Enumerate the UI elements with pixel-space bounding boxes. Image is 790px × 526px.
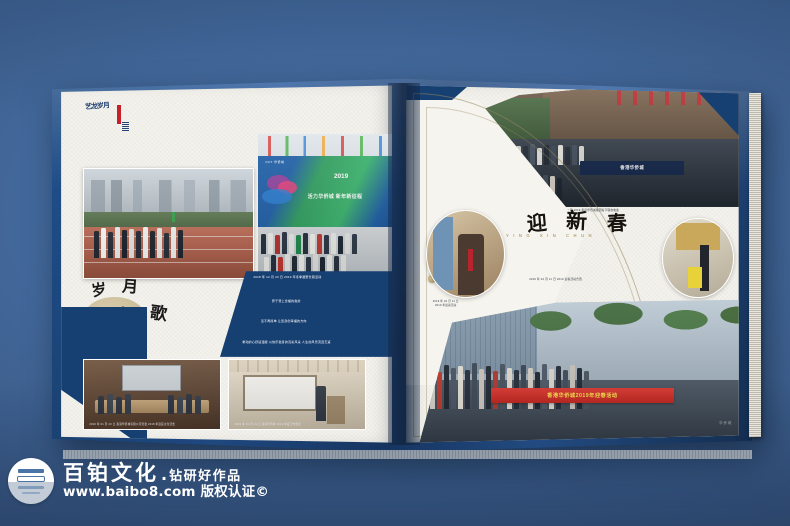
- watermark-text-block: 百铂文化 . 钻研好作品 www.baibo8.com 版权认证©: [63, 463, 269, 500]
- photo-conference-presentation[interactable]: 2019 年 01 月 23 日 香港华侨城 2019 年度工作会议: [228, 359, 366, 431]
- calligraphy-yingxinchun: YING XIN CHUN 迎 新 春: [506, 218, 686, 268]
- photo-red-tie: [468, 249, 473, 271]
- caption-line-2: 2019 年迎春活动: [433, 304, 459, 308]
- banner-text: 香港华侨城: [620, 165, 644, 171]
- seal-red-accent: [117, 105, 121, 124]
- navy-text-band: 2018 年 12 月 23 日 2019 年冬季越野长跑活动 奔于登上拿福的奥…: [220, 271, 392, 357]
- photo-red-banner: 香港华侨城2019年迎春活动: [491, 388, 673, 402]
- photo-doorway: [433, 217, 453, 291]
- brand-site-line: www.baibo8.com 版权认证©: [63, 485, 269, 500]
- photo-banner-huaqiaocheng: 香港华侨城: [580, 161, 684, 176]
- photo-running-track: [84, 227, 253, 277]
- photo-group-2019-banner[interactable]: OCT 华侨城 2019 活力华侨城 新年新征程: [258, 134, 392, 275]
- seal-calligraphy: 艺龙岁月: [85, 102, 116, 140]
- band-line-3: 活不再简单 让置身创幸福的方向: [261, 319, 307, 324]
- baibo-logo-icon: [8, 458, 54, 504]
- brand-seal: 艺龙岁月: [86, 103, 129, 139]
- cal-char-2: 月: [122, 281, 139, 296]
- calligraphy-characters: 迎 新 春: [527, 213, 653, 273]
- page-edges-right: [749, 93, 761, 437]
- brand-separator: .: [161, 465, 167, 484]
- photo-treeline: [84, 212, 253, 229]
- cal-char-1: 岁: [91, 284, 108, 300]
- photo-side-watermark: 华侨城: [719, 420, 732, 425]
- photo-palm-trees: [517, 300, 738, 357]
- photo-projector-screen: [122, 365, 181, 391]
- circle-left-caption: 2019 年 02 月 11 日 2019 年迎春活动: [433, 300, 459, 308]
- photo-podium: [327, 396, 345, 424]
- photo-outdoor-group-banner[interactable]: 香港华侨城2019年迎春活动 华侨城: [419, 300, 738, 443]
- photo-projection-screen: [243, 375, 318, 411]
- right-page[interactable]: 香港华侨城 2019 年 01 月 29 日 2019 年度华侨城集团春节联欢晚…: [406, 85, 739, 442]
- photo-outdoor-sports-parade[interactable]: [83, 168, 254, 279]
- photo-boardroom-meeting[interactable]: 2019 年 01 月 23 日 香港华侨城有限公司党委 2018 年度民主生活…: [83, 359, 221, 431]
- photo-seated-crowd: [258, 227, 392, 275]
- photo-yellow-board: [688, 267, 702, 287]
- photo-flag-row: [258, 136, 392, 156]
- photo-ceiling: [229, 360, 365, 373]
- brand-name-cn: 百铂文化: [63, 463, 159, 484]
- photo-conference-table: [95, 400, 209, 413]
- oct-logo-text: OCT 华侨城: [265, 160, 284, 164]
- photo-people-group: [94, 223, 183, 258]
- cal-char-2: 新: [566, 212, 588, 231]
- photo-stage-backdrop: [258, 156, 392, 229]
- photo-circle-leader-portrait[interactable]: [426, 210, 504, 298]
- band-line-2: 奔于登上拿福的奥妙: [272, 299, 301, 304]
- photo-crowd-ground: [419, 380, 738, 443]
- banner-year: 2019: [334, 173, 348, 180]
- screenshot-stage: 艺龙岁月: [0, 0, 790, 526]
- banner-slogan: 活力华侨城 新年新征程: [308, 193, 363, 200]
- cal-char-3: 春: [606, 215, 627, 233]
- band-line-4: 重动的心舒适温暖 以快乐健身的竞彩风采 人生的风景流连忘返: [242, 340, 330, 345]
- photo-speaker: [316, 386, 326, 421]
- brand-tagline: 钻研好作品: [169, 465, 242, 484]
- photo-buildings: [91, 180, 246, 221]
- band-line-1: 2018 年 12 月 23 日 2019 年冬季越野长跑活动: [253, 275, 321, 280]
- seal-text-bar: [122, 122, 129, 131]
- cal-char-1: 迎: [527, 215, 548, 234]
- center-caption: 2019 年 02 月 11 日 2019 迎春活动合照: [529, 278, 582, 282]
- cal-char-4: 歌: [149, 304, 168, 322]
- left-page[interactable]: 艺龙岁月: [61, 85, 392, 442]
- photo-sky: [258, 134, 392, 275]
- photo-caption: 2019 年 01 月 23 日 香港华侨城有限公司党委 2018 年度民主生活…: [89, 423, 175, 427]
- red-banner-text: 香港华侨城2019年迎春活动: [547, 392, 617, 399]
- watermark-logo: 百铂文化 . 钻研好作品 www.baibo8.com 版权认证©: [8, 458, 269, 504]
- book-spine-shadow: [388, 83, 420, 444]
- photo-sky: [84, 169, 253, 213]
- photo-caption: 2019 年 01 月 23 日 香港华侨城 2019 年度工作会议: [235, 423, 301, 427]
- photo-album-book[interactable]: 艺龙岁月: [52, 78, 752, 452]
